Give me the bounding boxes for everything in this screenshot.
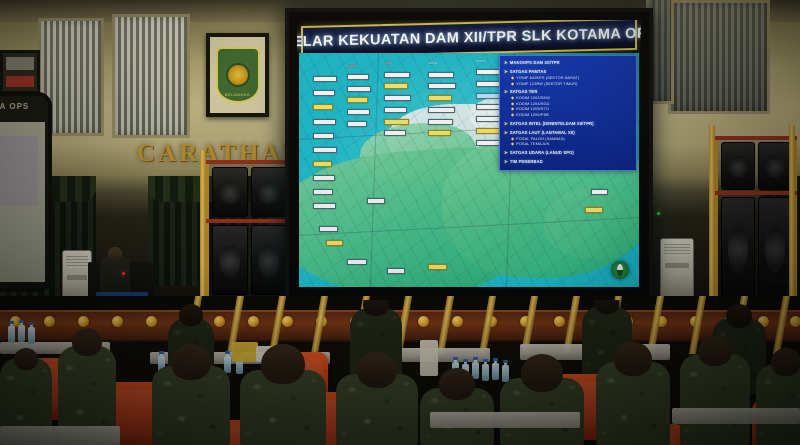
audience-head xyxy=(261,344,305,384)
audience-area xyxy=(0,300,800,445)
loudspeaker xyxy=(212,225,248,295)
water-bottle xyxy=(502,365,509,382)
audience-member xyxy=(152,366,230,445)
unit-marker xyxy=(347,109,370,115)
wall-frame-left xyxy=(0,50,40,94)
audience-member xyxy=(336,374,418,445)
diamond-bullet-icon: ◆ xyxy=(511,95,514,100)
legend-heading: ➤SATGAS INTEL (DENINTELDAM XII/TPR) xyxy=(504,121,633,127)
audience-head xyxy=(357,352,397,388)
presenter-head xyxy=(108,247,123,262)
loudspeaker xyxy=(721,197,755,297)
stage-pole xyxy=(709,126,715,300)
unit-marker xyxy=(591,189,608,195)
unit-marker xyxy=(313,175,335,181)
bullet-arrow-icon: ➤ xyxy=(504,130,508,135)
diamond-bullet-icon: ◆ xyxy=(511,106,514,111)
frame-lower-band xyxy=(6,76,34,87)
unit-marker xyxy=(313,133,334,139)
window-left-2 xyxy=(112,14,190,138)
diamond-bullet-icon: ◆ xyxy=(511,75,514,80)
bullet-arrow-icon: ➤ xyxy=(504,150,508,155)
led-green-icon xyxy=(657,212,660,215)
unit-marker xyxy=(313,104,333,110)
unit-marker xyxy=(428,264,447,270)
ac-vent xyxy=(664,244,690,256)
legend-heading-text: TIM PENERBAD xyxy=(510,159,543,164)
audience-head xyxy=(14,348,38,370)
audience-member xyxy=(756,364,800,445)
side-screen-content-block xyxy=(0,136,38,206)
ac-vent xyxy=(66,256,88,268)
unit-marker xyxy=(428,130,451,136)
unit-marker xyxy=(347,86,371,92)
legend-heading: ➤MAKOOPS DAM XII/TPR xyxy=(504,60,633,66)
water-bottle xyxy=(8,326,15,343)
legend-heading: ➤TIM PENERBAD xyxy=(504,159,633,165)
legend-subitem-text: YONIF 642KPS (SEKTOR BARAT) xyxy=(516,75,579,80)
unit-marker xyxy=(476,81,502,87)
audience-head xyxy=(363,300,389,316)
podium-indicator-light xyxy=(122,272,125,275)
speaker-rack-right xyxy=(715,136,797,302)
bullet-arrow-icon: ➤ xyxy=(504,89,508,94)
legend-subitem-text: KODIM 1204/SGU xyxy=(516,101,549,106)
window-blinds xyxy=(115,17,187,135)
unit-marker xyxy=(428,83,456,89)
rack-bar xyxy=(206,219,294,223)
legend-group: ➤SATGAS PAMTAS ◆YONIF 642KPS (SEKTOR BAR… xyxy=(504,69,633,86)
unit-marker xyxy=(476,104,501,110)
rack-bar xyxy=(206,160,294,164)
audience-member xyxy=(680,354,750,445)
stage-pole xyxy=(789,126,795,300)
legend-subitem: ◆YONIF 123RW (SEKTOR TIMUR) xyxy=(504,81,633,87)
presentation-slide: GELAR KEKUATAN DAM XII/TPR SLK KOTAMA OP… xyxy=(297,20,641,289)
unit-marker xyxy=(326,240,343,246)
ac-panel xyxy=(67,275,87,280)
unit-marker xyxy=(313,90,335,96)
rack-bar xyxy=(715,136,797,140)
tiger-crest-icon: BELAWANG xyxy=(216,47,260,103)
unit-marker xyxy=(384,83,408,89)
audience-head xyxy=(72,328,102,356)
unit-marker xyxy=(313,76,337,82)
unit-marker xyxy=(347,74,369,80)
unit-marker xyxy=(313,189,333,195)
diamond-bullet-icon: ◆ xyxy=(511,136,514,141)
side-screen-title: MA OPS xyxy=(0,102,29,111)
audience-head xyxy=(439,368,475,400)
frame-upper-band xyxy=(6,57,34,70)
loudspeaker xyxy=(758,197,792,297)
unit-marker xyxy=(384,95,411,101)
compass-needle-icon xyxy=(617,264,623,276)
legend-heading-text: MAKOOPS DAM XII/TPR xyxy=(510,60,560,65)
legend-subitem-text: KODIM 1205/STG xyxy=(516,106,549,111)
unit-marker xyxy=(387,268,405,274)
legend-heading-text: SATGAS LAUT (LANTAMAL XII) xyxy=(510,130,575,135)
unit-marker xyxy=(428,119,453,125)
legend-subitem-text: POSAL TEMAJUK xyxy=(516,141,549,146)
front-table xyxy=(430,412,580,428)
diamond-bullet-icon: ◆ xyxy=(511,141,514,146)
legend-heading: ➤SATGAS UDARA (LANUD SPO) xyxy=(504,150,633,156)
briefing-hall-photo: BELAWANG CARATHAN xyxy=(0,0,800,445)
unit-label: KODIM xyxy=(428,62,437,65)
unit-marker xyxy=(313,147,337,153)
legend-heading-text: SATGAS TER xyxy=(510,89,538,94)
legend-heading-text: SATGAS UDARA (LANUD SPO) xyxy=(510,150,574,155)
legend-heading-text: SATGAS INTEL (DENINTELDAM XII/TPR) xyxy=(510,121,594,126)
loudspeaker xyxy=(212,167,248,217)
legend-heading-text: SATGAS PAMTAS xyxy=(510,69,547,74)
legend-subitem: ◆POSAL TEMAJUK xyxy=(504,141,633,147)
unit-marker xyxy=(476,128,500,134)
unit-marker xyxy=(585,207,603,213)
legend-subitem-text: KODIM 1202/SKW xyxy=(516,95,550,100)
bullet-arrow-icon: ➤ xyxy=(504,69,508,74)
unit-marker xyxy=(384,72,410,78)
unit-marker xyxy=(347,259,367,265)
unit-marker xyxy=(313,119,336,125)
legend-group: ➤SATGAS UDARA (LANUD SPO) xyxy=(504,150,633,156)
unit-marker xyxy=(428,72,454,78)
window-blinds xyxy=(671,3,767,111)
crest-label: BELAWANG xyxy=(218,92,258,97)
unit-marker xyxy=(347,121,367,127)
slide-map: KOREM YONIF KODIM xyxy=(299,53,639,287)
speaker-rack-left xyxy=(206,160,294,302)
water-bottle xyxy=(18,325,25,342)
loudspeaker xyxy=(758,142,792,190)
water-bottle xyxy=(28,327,35,344)
unit-marker xyxy=(428,95,452,101)
loudspeaker xyxy=(251,225,287,295)
unit-marker xyxy=(347,97,368,103)
legend-subitem-text: POSAL PALOH (SAMBAS) xyxy=(516,136,565,141)
front-table xyxy=(0,426,120,445)
legend-subitem-text: KODIM 1206/PSB xyxy=(516,112,549,117)
audience-member xyxy=(240,370,326,445)
loudspeaker xyxy=(721,142,755,190)
water-bottle xyxy=(482,364,489,381)
audience-head xyxy=(179,304,203,326)
diamond-bullet-icon: ◆ xyxy=(511,101,514,106)
unit-marker xyxy=(384,107,407,113)
compass-north-icon xyxy=(611,261,629,279)
main-projection-screen: GELAR KEKUATAN DAM XII/TPR SLK KOTAMA OP… xyxy=(285,8,653,301)
water-bottle xyxy=(224,356,231,373)
unit-crest-plaque: BELAWANG xyxy=(206,33,269,117)
audience-head xyxy=(171,344,211,380)
legend-group: ➤MAKOOPS DAM XII/TPR xyxy=(504,60,633,66)
legend-group: ➤TIM PENERBAD xyxy=(504,159,633,165)
unit-label: YONIF xyxy=(384,62,392,65)
diamond-bullet-icon: ◆ xyxy=(511,112,514,117)
audience-member xyxy=(596,362,670,445)
audience-head xyxy=(595,300,620,314)
audience-head xyxy=(726,304,752,328)
bullet-arrow-icon: ➤ xyxy=(504,60,508,65)
unit-marker xyxy=(384,119,409,125)
unit-marker xyxy=(476,140,502,146)
audience-head xyxy=(521,354,563,392)
unit-marker xyxy=(313,161,332,167)
legend-subitem: ◆KODIM 1206/PSB xyxy=(504,112,633,118)
unit-label: KOREM xyxy=(347,65,357,68)
unit-label: KOOPS xyxy=(476,60,486,63)
stage-pole xyxy=(200,150,206,300)
rack-bar xyxy=(715,191,797,195)
tissue-box xyxy=(420,340,438,376)
unit-marker xyxy=(319,226,338,232)
water-bottle xyxy=(492,363,499,380)
unit-marker xyxy=(428,107,455,113)
snack-tray xyxy=(232,342,258,362)
legend-subitem-text: YONIF 123RW (SEKTOR TIMUR) xyxy=(516,81,577,86)
crest-emblem-icon xyxy=(228,65,248,85)
window-right xyxy=(668,0,770,114)
legend-group: ➤SATGAS TER ◆KODIM 1202/SKW ◆KODIM 1204/… xyxy=(504,89,633,117)
unit-marker xyxy=(367,198,385,204)
diamond-bullet-icon: ◆ xyxy=(511,81,514,86)
legend-group: ➤SATGAS LAUT (LANTAMAL XII) ◆POSAL PALOH… xyxy=(504,130,633,147)
audience-head xyxy=(698,336,732,366)
unit-marker xyxy=(313,203,336,209)
slide-legend: ➤MAKOOPS DAM XII/TPR ➤SATGAS PAMTAS ◆YON… xyxy=(499,55,637,171)
audience-head xyxy=(614,342,652,376)
bullet-arrow-icon: ➤ xyxy=(504,121,508,126)
slide-title-text: GELAR KEKUATAN DAM XII/TPR SLK KOTAMA OP… xyxy=(297,25,641,50)
loudspeaker xyxy=(251,167,287,217)
air-conditioner-right xyxy=(660,238,694,298)
front-table xyxy=(672,408,800,424)
ac-panel xyxy=(665,263,689,268)
secondary-projection-screen: MA OPS xyxy=(0,92,52,292)
unit-marker xyxy=(384,130,406,136)
audience-head xyxy=(771,348,800,376)
legend-group: ➤SATGAS INTEL (DENINTELDAM XII/TPR) xyxy=(504,121,633,127)
bullet-arrow-icon: ➤ xyxy=(504,159,508,164)
